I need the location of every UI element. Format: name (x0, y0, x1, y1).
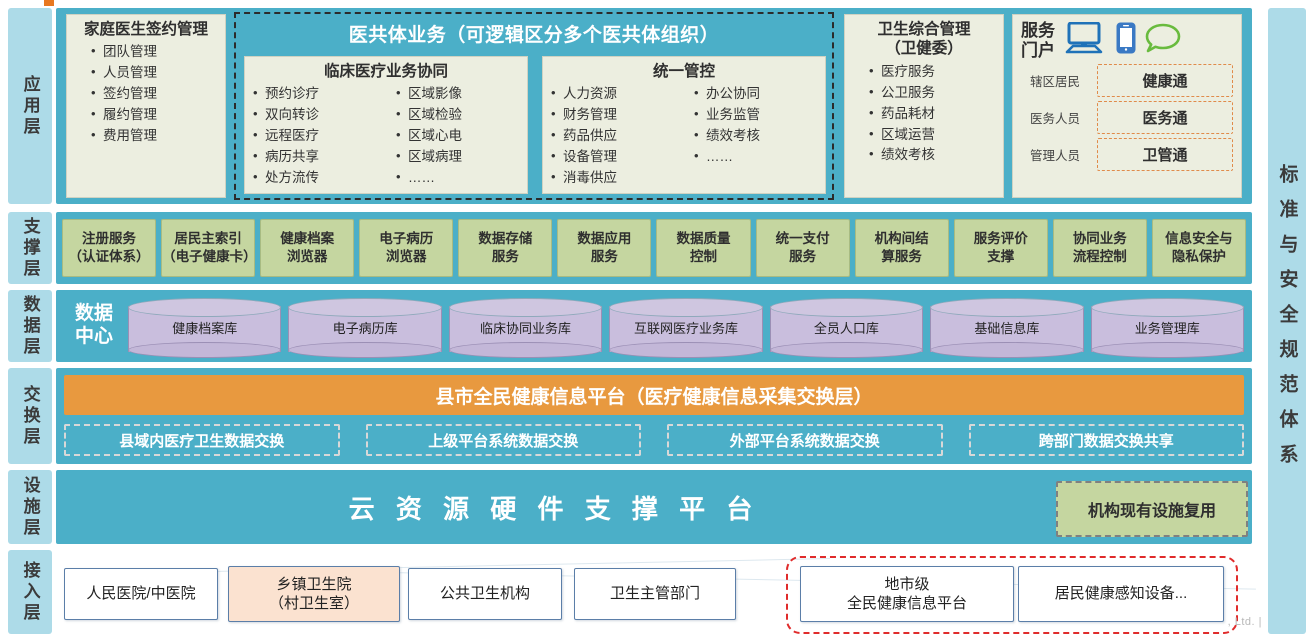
support-box-line2: 服务 (478, 248, 532, 266)
health-admin-title: 卫生综合管理 （卫健委） (845, 15, 1003, 59)
layer-tab-support-label: 支撑层 (19, 217, 40, 280)
mobile-phone-icon (1116, 22, 1136, 59)
database-emr[interactable]: 电子病历库 (288, 298, 441, 356)
access-box-line2: 全民健康信息平台 (847, 594, 967, 614)
chat-bubble-icon (1145, 23, 1181, 58)
unified-control-card[interactable]: 统一管控 人力资源 财务管理 药品供应 设备管理 消毒供应 办公协同 业务监管 … (542, 56, 826, 194)
list-item: 预约诊疗 (251, 84, 384, 105)
list-item: 签约管理 (89, 84, 225, 105)
standards-security-label: 标准与安全规范体系 (1274, 164, 1301, 479)
service-portal-title-line1: 服务 (1021, 21, 1055, 41)
support-box-master-index[interactable]: 居民主索引（电子健康卡） (161, 219, 255, 277)
list-item: 区域检验 (394, 105, 527, 126)
database-business-mgmt[interactable]: 业务管理库 (1091, 298, 1244, 356)
unified-control-col1: 人力资源 财务管理 药品供应 设备管理 消毒供应 (543, 81, 682, 189)
health-admin-card[interactable]: 卫生综合管理 （卫健委） 医疗服务 公卫服务 药品耗材 区域运营 绩效考核 (844, 14, 1004, 198)
database-label: 业务管理库 (1091, 298, 1244, 356)
portal-app-weiguantong[interactable]: 卫管通 (1097, 138, 1233, 171)
list-item: 区域心电 (394, 126, 527, 147)
data-center-line2: 中心 (75, 326, 113, 349)
support-box-register[interactable]: 注册服务（认证体系） (62, 219, 156, 277)
exchange-box-cross-department[interactable]: 跨部门数据交换共享 (969, 424, 1245, 456)
exchange-box-upper-platform[interactable]: 上级平台系统数据交换 (366, 424, 642, 456)
list-item: 履约管理 (89, 105, 225, 126)
database-label: 全员人口库 (770, 298, 923, 356)
list-item: 区域影像 (394, 84, 527, 105)
exchange-box-county[interactable]: 县域内医疗卫生数据交换 (64, 424, 340, 456)
support-box-line1: 机构间结 (875, 230, 929, 248)
exchange-platform-bar[interactable]: 县市全民健康信息平台（医疗健康信息采集交换层） (64, 375, 1244, 415)
support-box-line1: 协同业务 (1073, 230, 1127, 248)
database-row: 健康档案库 电子病历库 临床协同业务库 互联网医疗业务库 全员人口库 基础信息库… (128, 298, 1244, 356)
database-basic-info[interactable]: 基础信息库 (930, 298, 1083, 356)
portal-role-residents: 辖区居民 (1021, 71, 1089, 90)
service-portal-title-line2: 门户 (1021, 41, 1055, 61)
data-center-label: 数据 中心 (64, 296, 124, 356)
health-admin-title-line1: 卫生综合管理 (845, 20, 1003, 39)
list-item: 消毒供应 (549, 168, 682, 189)
list-item: 医疗服务 (867, 62, 1003, 83)
list-item: …… (692, 147, 825, 168)
access-box-line2: （村卫生室） (269, 594, 359, 614)
family-doctor-list: 团队管理 人员管理 签约管理 履约管理 费用管理 (67, 39, 225, 147)
support-box-line1: 信息安全与 (1165, 230, 1233, 248)
family-doctor-card[interactable]: 家庭医生签约管理 团队管理 人员管理 签约管理 履约管理 费用管理 (66, 14, 226, 198)
layer-tab-data[interactable]: 数据层 (8, 290, 52, 362)
layer-tab-exchange[interactable]: 交换层 (8, 368, 52, 464)
support-box-data-quality[interactable]: 数据质量控制 (656, 219, 750, 277)
support-box-security-privacy[interactable]: 信息安全与隐私保护 (1152, 219, 1246, 277)
support-box-line2: （认证体系） (69, 248, 150, 266)
portal-app-jiankangtong[interactable]: 健康通 (1097, 64, 1233, 97)
access-box-line1: 公共卫生机构 (440, 584, 530, 604)
list-item: 病历共享 (251, 147, 384, 168)
list-item: 业务监管 (692, 105, 825, 126)
list-item: 双向转诊 (251, 105, 384, 126)
support-box-line2: 算服务 (875, 248, 929, 266)
access-box-line1: 地市级 (847, 575, 967, 595)
support-box-emr-browser[interactable]: 电子病历浏览器 (359, 219, 453, 277)
list-item: 药品耗材 (867, 104, 1003, 125)
list-item: …… (394, 168, 527, 189)
database-label: 基础信息库 (930, 298, 1083, 356)
layer-tab-infrastructure-label: 设施层 (19, 476, 40, 539)
support-box-health-record-browser[interactable]: 健康档案浏览器 (260, 219, 354, 277)
list-item: 财务管理 (549, 105, 682, 126)
list-item: 人力资源 (549, 84, 682, 105)
portal-role-staff: 医务人员 (1021, 108, 1089, 127)
clinical-collaboration-col1: 预约诊疗 双向转诊 远程医疗 病历共享 处方流传 (245, 81, 384, 189)
health-admin-list: 医疗服务 公卫服务 药品耗材 区域运营 绩效考核 (845, 59, 1003, 167)
layer-tab-access-label: 接入层 (19, 561, 40, 624)
layer-tab-exchange-label: 交换层 (19, 385, 40, 448)
support-box-line2: 流程控制 (1073, 248, 1127, 266)
list-item: 绩效考核 (692, 126, 825, 147)
support-box-line2: 控制 (677, 248, 731, 266)
portal-row-residents[interactable]: 辖区居民 健康通 (1021, 64, 1233, 97)
unified-control-col2: 办公协同 业务监管 绩效考核 …… (686, 81, 825, 189)
clinical-collaboration-title: 临床医疗业务协同 (245, 57, 527, 81)
layer-tab-infrastructure[interactable]: 设施层 (8, 470, 52, 544)
list-item: 处方流传 (251, 168, 384, 189)
support-box-line1: 健康档案 (280, 230, 334, 248)
portal-row-staff[interactable]: 医务人员 医务通 (1021, 101, 1233, 134)
monitor-icon (1065, 22, 1107, 59)
layer-tab-application-label: 应用层 (19, 75, 40, 138)
support-box-line2: 支撑 (974, 248, 1028, 266)
access-box-health-sensors[interactable]: 居民健康感知设备... (1018, 566, 1224, 622)
database-label: 电子病历库 (288, 298, 441, 356)
database-label: 互联网医疗业务库 (609, 298, 762, 356)
list-item: 绩效考核 (867, 145, 1003, 166)
support-box-unified-payment[interactable]: 统一支付服务 (756, 219, 850, 277)
list-item: 远程医疗 (251, 126, 384, 147)
access-box-line1: 人民医院/中医院 (86, 584, 195, 604)
support-box-line2: 浏览器 (379, 248, 433, 266)
support-box-line1: 居民主索引 (162, 230, 254, 248)
list-item: 办公协同 (692, 84, 825, 105)
service-portal-card[interactable]: 服务 门户 (1012, 14, 1242, 198)
portal-role-managers: 管理人员 (1021, 145, 1089, 164)
portal-app-yiwutong[interactable]: 医务通 (1097, 101, 1233, 134)
list-item: 费用管理 (89, 126, 225, 147)
service-portal-title: 服务 门户 (1021, 21, 1055, 60)
data-center-line1: 数据 (75, 303, 113, 326)
support-box-line1: 电子病历 (379, 230, 433, 248)
layer-tab-access[interactable]: 接入层 (8, 550, 52, 634)
portal-row-managers[interactable]: 管理人员 卫管通 (1021, 138, 1233, 171)
support-box-line2: 服务 (577, 248, 631, 266)
cloud-platform-title: 云 资 源 硬 件 支 撑 平 台 (64, 470, 1044, 544)
unified-control-title: 统一管控 (543, 57, 825, 81)
layer-tab-support[interactable]: 支撑层 (8, 212, 52, 284)
list-item: 人员管理 (89, 63, 225, 84)
existing-facility-reuse-box[interactable]: 机构现有设施复用 (1056, 481, 1248, 537)
list-item: 药品供应 (549, 126, 682, 147)
medical-group-header: 医共体业务（可逻辑区分多个医共体组织） (236, 14, 832, 52)
access-box-township-clinic[interactable]: 乡镇卫生院 （村卫生室） (228, 566, 400, 622)
support-box-data-storage[interactable]: 数据存储服务 (458, 219, 552, 277)
access-box-hospital[interactable]: 人民医院/中医院 (64, 568, 218, 620)
support-box-line1: 注册服务 (69, 230, 150, 248)
list-item: 区域病理 (394, 147, 527, 168)
database-label: 健康档案库 (128, 298, 281, 356)
clinical-collaboration-col2: 区域影像 区域检验 区域心电 区域病理 …… (388, 81, 527, 189)
exchange-boxes: 县域内医疗卫生数据交换 上级平台系统数据交换 外部平台系统数据交换 跨部门数据交… (64, 424, 1244, 456)
support-box-process-control[interactable]: 协同业务流程控制 (1053, 219, 1147, 277)
support-box-line1: 数据质量 (677, 230, 731, 248)
list-item: 公卫服务 (867, 83, 1003, 104)
support-box-service-evaluation[interactable]: 服务评价支撑 (954, 219, 1048, 277)
access-box-line1: 卫生主管部门 (610, 584, 700, 604)
database-internet-medical[interactable]: 互联网医疗业务库 (609, 298, 762, 356)
access-box-line1: 居民健康感知设备... (1055, 584, 1188, 604)
list-item: 区域运营 (867, 125, 1003, 146)
family-doctor-title: 家庭医生签约管理 (67, 15, 225, 39)
support-box-line1: 统一支付 (776, 230, 830, 248)
support-layer-boxes: 注册服务（认证体系） 居民主索引（电子健康卡） 健康档案浏览器 电子病历浏览器 … (62, 219, 1246, 277)
support-box-line2: 服务 (776, 248, 830, 266)
access-box-health-authority[interactable]: 卫生主管部门 (574, 568, 736, 620)
top-orange-marker (44, 0, 54, 6)
support-box-line1: 数据应用 (577, 230, 631, 248)
support-box-data-application[interactable]: 数据应用服务 (557, 219, 651, 277)
layer-tab-application[interactable]: 应用层 (8, 8, 52, 204)
architecture-diagram: 应用层 支撑层 数据层 交换层 设施层 接入层 标准与安全规范体系 家庭医生签约… (0, 0, 1314, 642)
database-population[interactable]: 全员人口库 (770, 298, 923, 356)
database-clinical-collab[interactable]: 临床协同业务库 (449, 298, 602, 356)
list-item: 团队管理 (89, 42, 225, 63)
layer-tab-data-label: 数据层 (19, 295, 40, 358)
exchange-box-external-platform[interactable]: 外部平台系统数据交换 (667, 424, 943, 456)
clinical-collaboration-card[interactable]: 临床医疗业务协同 预约诊疗 双向转诊 远程医疗 病历共享 处方流传 区域影像 区… (244, 56, 528, 194)
support-box-line2: 隐私保护 (1165, 248, 1233, 266)
support-box-line2: （电子健康卡） (162, 248, 254, 266)
database-health-record[interactable]: 健康档案库 (128, 298, 281, 356)
standards-security-bar: 标准与安全规范体系 (1268, 8, 1306, 634)
access-box-public-health[interactable]: 公共卫生机构 (408, 568, 562, 620)
support-box-line1: 服务评价 (974, 230, 1028, 248)
support-box-inter-org-settlement[interactable]: 机构间结算服务 (855, 219, 949, 277)
access-box-line1: 乡镇卫生院 (269, 575, 359, 595)
watermark: , Ltd. | (1228, 616, 1262, 628)
list-item: 设备管理 (549, 147, 682, 168)
access-box-city-platform[interactable]: 地市级 全民健康信息平台 (800, 566, 1014, 622)
support-box-line2: 浏览器 (280, 248, 334, 266)
health-admin-title-line2: （卫健委） (845, 39, 1003, 58)
support-box-line1: 数据存储 (478, 230, 532, 248)
database-label: 临床协同业务库 (449, 298, 602, 356)
